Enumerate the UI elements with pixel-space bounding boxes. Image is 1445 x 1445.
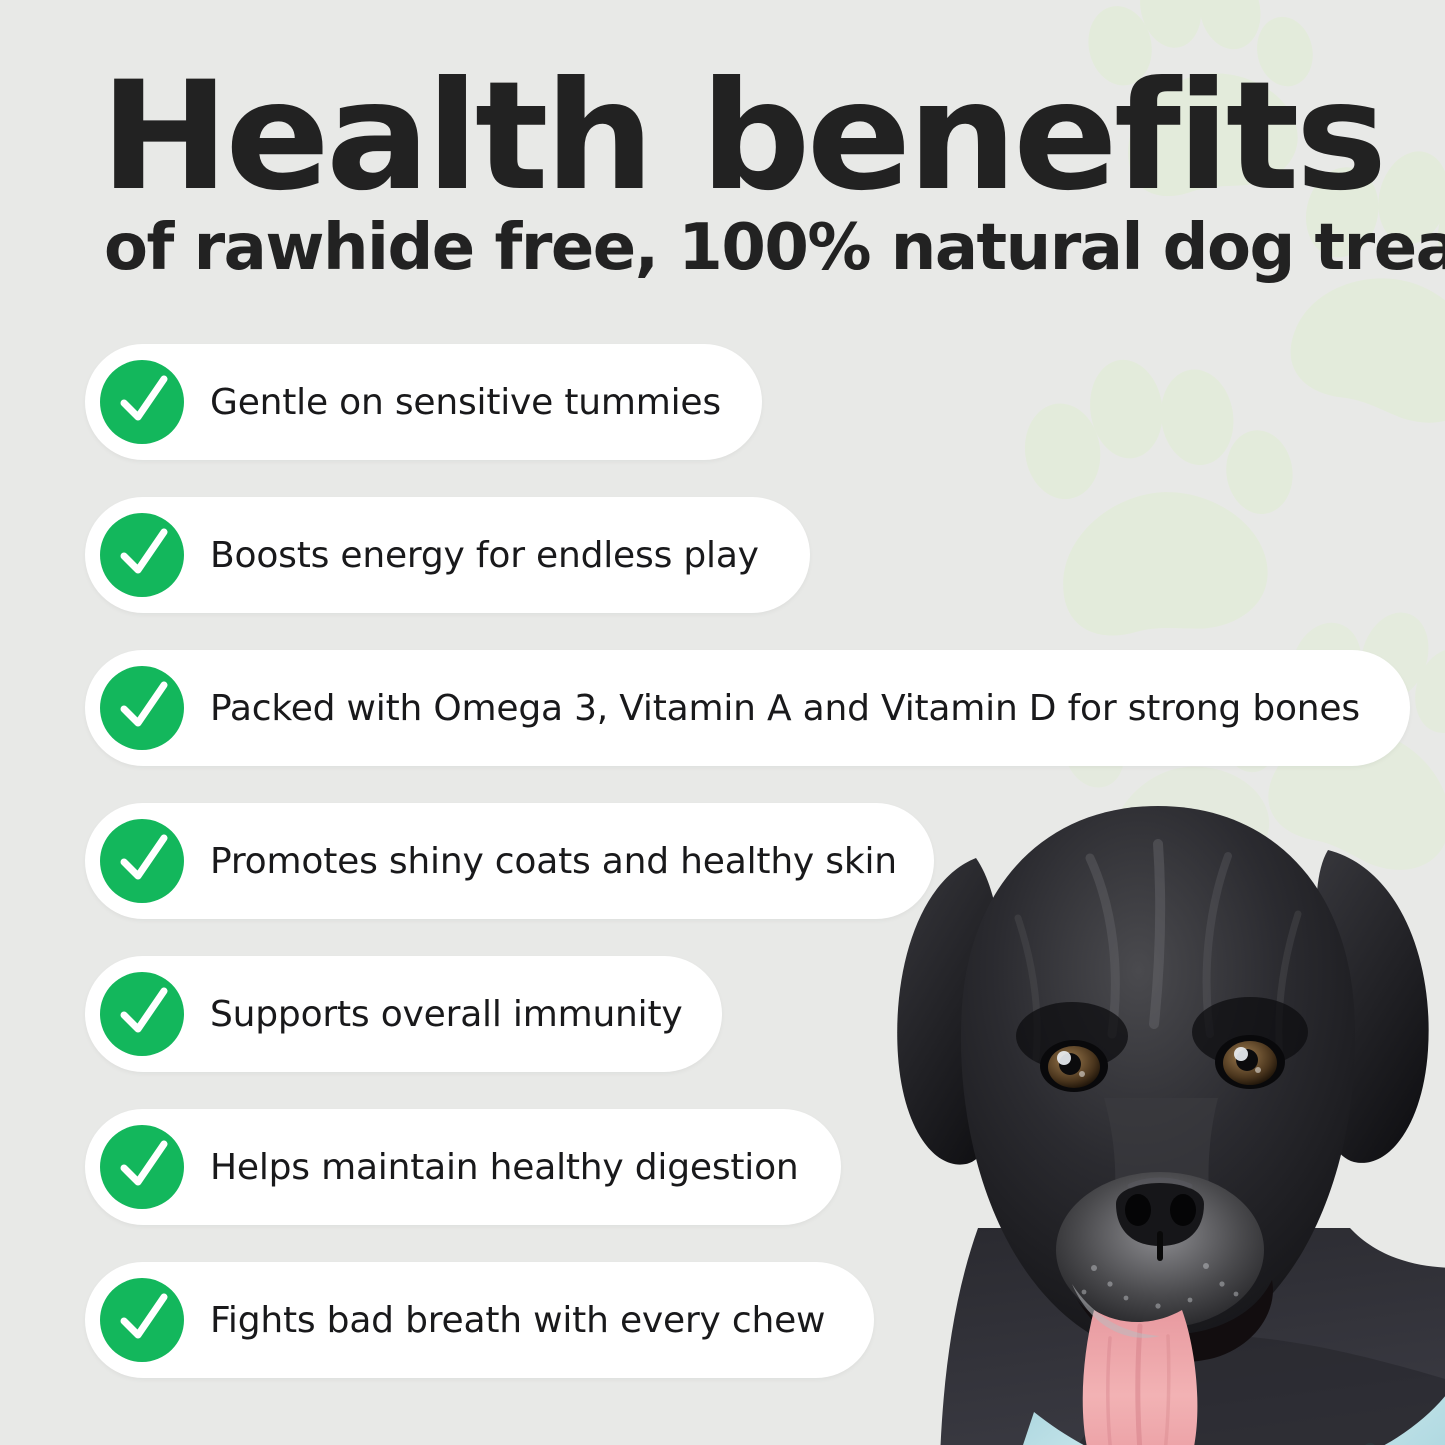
benefit-label: Gentle on sensitive tummies: [210, 382, 755, 423]
benefit-pill: Gentle on sensitive tummies: [85, 344, 762, 460]
check-icon: [100, 666, 184, 750]
benefit-label: Fights bad breath with every chew: [210, 1300, 859, 1341]
infographic-canvas: Health benefits of rawhide free, 100% na…: [0, 0, 1445, 1445]
benefit-label: Boosts energy for endless play: [210, 535, 793, 576]
benefit-label: Helps maintain healthy digestion: [210, 1147, 833, 1188]
benefit-pill: Helps maintain healthy digestion: [85, 1109, 841, 1225]
benefit-label: Supports overall immunity: [210, 994, 717, 1035]
check-icon: [100, 972, 184, 1056]
check-icon: [100, 360, 184, 444]
benefit-pill: Fights bad breath with every chew: [85, 1262, 874, 1378]
benefit-pill: Boosts energy for endless play: [85, 497, 810, 613]
benefit-pill: Packed with Omega 3, Vitamin A and Vitam…: [85, 650, 1410, 766]
benefit-pill: Promotes shiny coats and healthy skin: [85, 803, 934, 919]
check-icon: [100, 819, 184, 903]
check-icon: [100, 1278, 184, 1362]
check-icon: [100, 513, 184, 597]
benefit-label: Promotes shiny coats and healthy skin: [210, 841, 931, 882]
benefit-pill: Supports overall immunity: [85, 956, 722, 1072]
check-icon: [100, 1125, 184, 1209]
benefit-list: Gentle on sensitive tummiesBoosts energy…: [0, 0, 1445, 1445]
benefit-label: Packed with Omega 3, Vitamin A and Vitam…: [210, 688, 1394, 729]
